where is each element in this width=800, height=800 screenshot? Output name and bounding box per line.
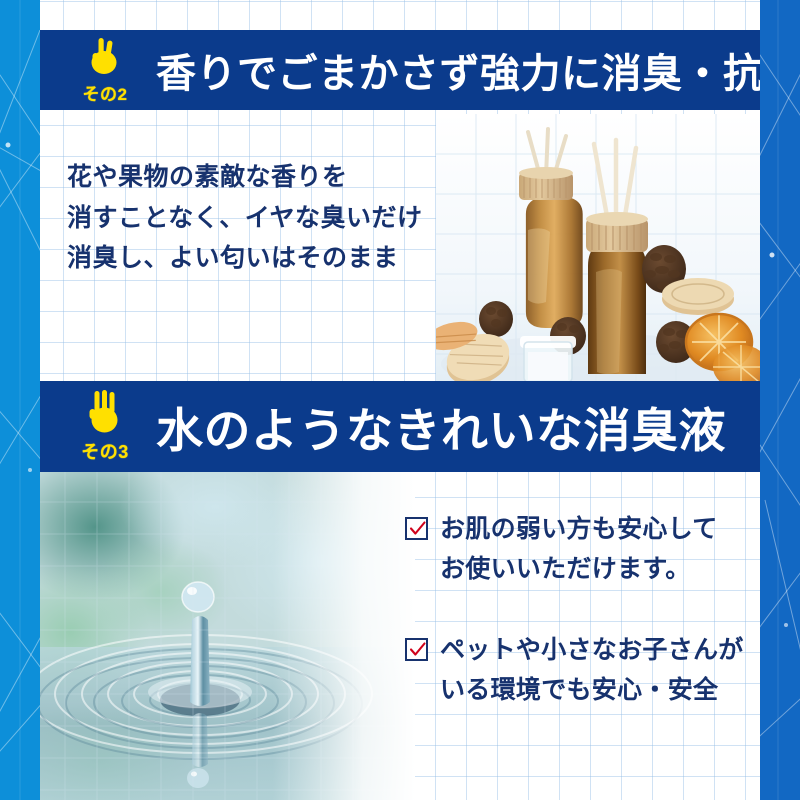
badge-sono2: その2 [62,35,148,105]
left-decorative-border [0,0,40,800]
section-3-title: 水のようなきれいな消臭液 [156,392,726,461]
check-icon [405,517,428,540]
section-3-banner: その3 水のようなきれいな消臭液 [40,381,760,472]
network-lines-pattern-icon [0,0,40,800]
hand-peace-two-fingers-icon [83,35,127,79]
section-2-copy: 花や果物の素敵な香りを 消すことなく、イヤな臭いだけ 消臭し、よい匂いはそのまま [67,157,423,279]
checkmark-glyph-icon [408,640,427,659]
checklist-line-1: ペットや小さなお子さんが [440,636,744,664]
right-decorative-border [760,0,800,800]
benefit-checklist: お肌の弱い方も安心して お使いいただけます。 ペットや小さなお子さんが いる環境… [405,510,745,752]
water-droplet-illustration-icon [40,472,415,800]
copy-line-1: 花や果物の素敵な香りを [67,157,423,198]
check-icon [405,638,428,661]
checklist-line-2: お使いいただけます。 [440,555,691,583]
copy-line-3: 消臭し、よい匂いはそのまま [67,238,423,279]
checkmark-glyph-icon [408,519,427,538]
section-2-title: 香りでごまかさず強力に消臭・抗菌 [156,41,760,99]
water-droplet-photo [40,472,415,800]
checklist-item-text: ペットや小さなお子さんが いる環境でも安心・安全 [440,631,744,710]
content-sheet: その2 香りでごまかさず強力に消臭・抗菌 花や果物の素敵な香りを 消すことなく、… [40,0,760,800]
checklist-item: お肌の弱い方も安心して お使いいただけます。 [405,510,745,589]
reed-diffuser-illustration-icon [436,114,760,381]
section-2-body: 花や果物の素敵な香りを 消すことなく、イヤな臭いだけ 消臭し、よい匂いはそのまま [40,110,760,381]
checklist-line-1: お肌の弱い方も安心して [440,515,718,543]
section-2-banner: その2 香りでごまかさず強力に消臭・抗菌 [40,30,760,110]
advertisement-page: その2 香りでごまかさず強力に消臭・抗菌 花や果物の素敵な香りを 消すことなく、… [0,0,800,800]
badge-label: その3 [81,438,129,464]
section-3-body: お肌の弱い方も安心して お使いいただけます。 ペットや小さなお子さんが いる環境… [40,472,760,800]
badge-label: その2 [83,80,128,105]
reed-diffuser-photo [436,114,760,381]
checklist-line-2: いる環境でも安心・安全 [440,676,718,704]
checklist-item-text: お肌の弱い方も安心して お使いいただけます。 [440,510,718,589]
badge-sono3: その3 [62,389,148,464]
checklist-item: ペットや小さなお子さんが いる環境でも安心・安全 [405,631,745,710]
network-lines-pattern-icon [760,0,800,800]
hand-three-fingers-icon [81,389,129,437]
copy-line-2: 消すことなく、イヤな臭いだけ [67,198,423,239]
